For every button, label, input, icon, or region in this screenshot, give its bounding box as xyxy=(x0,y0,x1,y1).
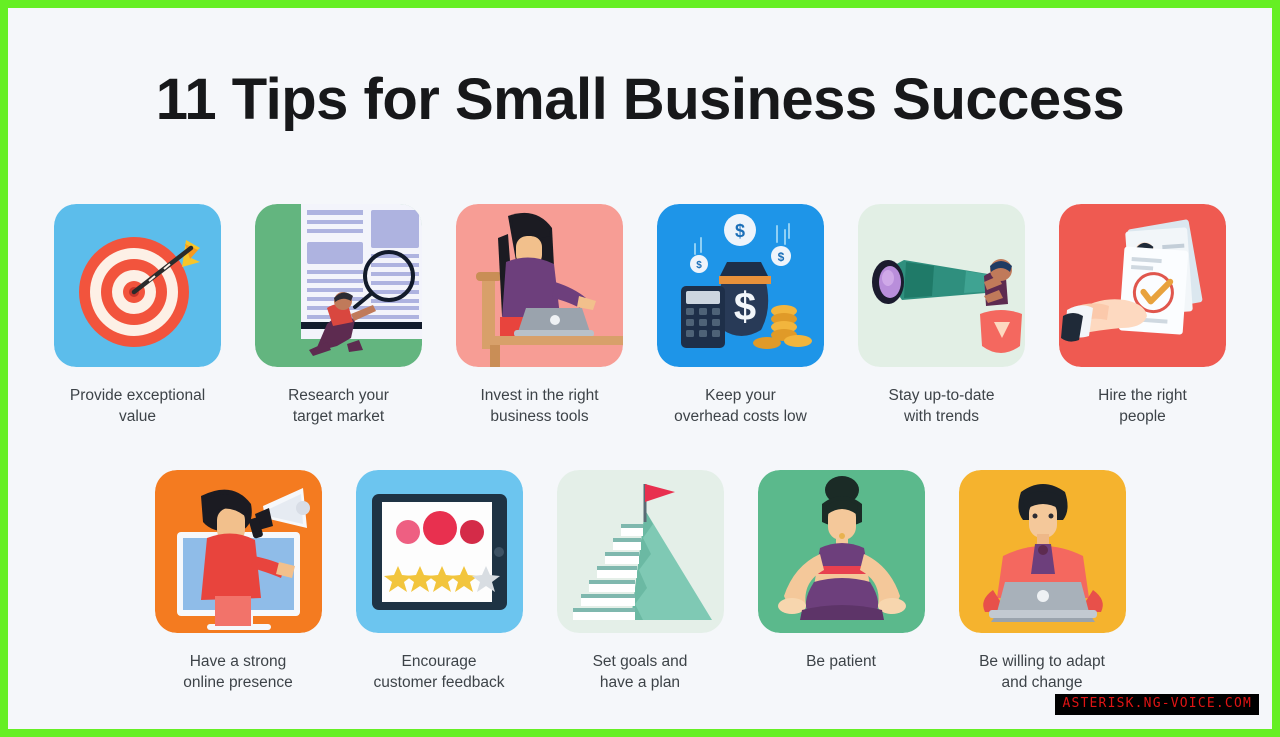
svg-text:$: $ xyxy=(778,250,785,264)
tips-row-1: Provide exceptional value xyxy=(8,204,1272,427)
woman-at-laptop-icon xyxy=(456,204,623,367)
tip-caption-3: Invest in the right business tools xyxy=(480,385,598,427)
tip-icon-tile-10[interactable] xyxy=(758,470,925,633)
page-title: 11 Tips for Small Business Success xyxy=(8,66,1272,133)
tip-caption-6: Hire the right people xyxy=(1098,385,1187,427)
svg-text:$: $ xyxy=(696,260,702,271)
tip-caption-11: Be willing to adapt and change xyxy=(979,651,1105,693)
tip-icon-tile-7[interactable] xyxy=(155,470,322,633)
tips-row-2: Have a strong online presence xyxy=(8,470,1272,693)
mountain-flag-stairs-icon xyxy=(557,470,724,633)
tip-card-3[interactable]: Invest in the right business tools xyxy=(456,204,623,427)
telescope-icon xyxy=(858,204,1025,367)
tip-caption-4: Keep your overhead costs low xyxy=(674,385,807,427)
tip-card-4[interactable]: $ $ $ xyxy=(657,204,824,427)
tip-icon-tile-4[interactable]: $ $ $ xyxy=(657,204,824,367)
tip-card-9[interactable]: Set goals and have a plan xyxy=(557,470,724,693)
svg-text:$: $ xyxy=(734,285,756,329)
tip-icon-tile-1[interactable] xyxy=(54,204,221,367)
hand-holding-resumes-icon xyxy=(1059,204,1226,367)
tip-icon-tile-5[interactable] xyxy=(858,204,1025,367)
tip-caption-8: Encourage customer feedback xyxy=(374,651,505,693)
tip-card-10[interactable]: Be patient xyxy=(758,470,925,672)
tip-card-7[interactable]: Have a strong online presence xyxy=(155,470,322,693)
tip-card-8[interactable]: Encourage customer feedback xyxy=(356,470,523,693)
person-with-laptop-icon xyxy=(959,470,1126,633)
tip-icon-tile-11[interactable] xyxy=(959,470,1126,633)
tip-icon-tile-9[interactable] xyxy=(557,470,724,633)
tip-caption-7: Have a strong online presence xyxy=(183,651,292,693)
tip-card-5[interactable]: Stay up-to-date with trends xyxy=(858,204,1025,427)
tablet-star-rating-icon xyxy=(356,470,523,633)
tip-caption-10: Be patient xyxy=(806,651,876,672)
tip-icon-tile-6[interactable] xyxy=(1059,204,1226,367)
tip-icon-tile-3[interactable] xyxy=(456,204,623,367)
megaphone-monitor-icon xyxy=(155,470,322,633)
tip-caption-2: Research your target market xyxy=(288,385,389,427)
infographic-canvas: 11 Tips for Small Business Success xyxy=(8,8,1272,729)
watermark: ASTERISK.NG-VOICE.COM xyxy=(1055,694,1259,715)
tip-icon-tile-2[interactable] xyxy=(255,204,422,367)
infographic-page: 11 Tips for Small Business Success xyxy=(0,0,1280,737)
tip-caption-1: Provide exceptional value xyxy=(70,385,205,427)
calculator-money-bag-icon: $ $ $ xyxy=(657,204,824,367)
target-arrow-icon xyxy=(54,204,221,367)
market-research-magnifier-icon xyxy=(255,204,422,367)
tip-card-1[interactable]: Provide exceptional value xyxy=(54,204,221,427)
tip-card-2[interactable]: Research your target market xyxy=(255,204,422,427)
meditating-woman-icon xyxy=(758,470,925,633)
tip-caption-5: Stay up-to-date with trends xyxy=(889,385,995,427)
tip-caption-9: Set goals and have a plan xyxy=(593,651,688,693)
tip-card-6[interactable]: Hire the right people xyxy=(1059,204,1226,427)
tip-card-11[interactable]: Be willing to adapt and change xyxy=(959,470,1126,693)
svg-text:$: $ xyxy=(735,221,745,241)
tip-icon-tile-8[interactable] xyxy=(356,470,523,633)
